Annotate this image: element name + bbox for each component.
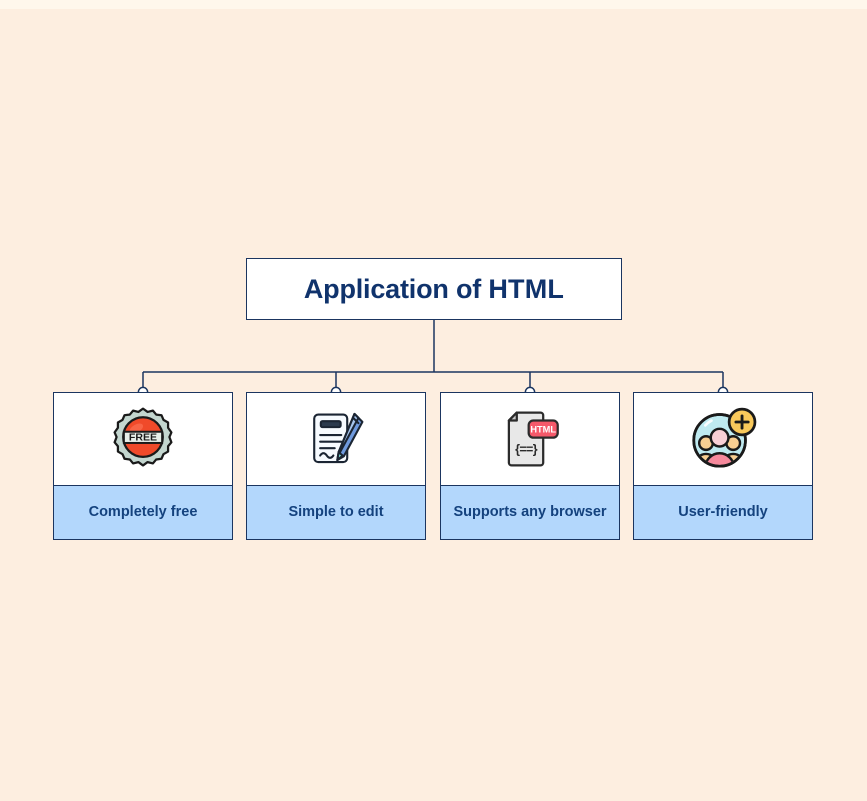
card-simple-to-edit[interactable]: Simple to edit bbox=[246, 392, 426, 540]
card-icon-area bbox=[247, 393, 425, 485]
users-group-add-icon bbox=[689, 405, 757, 473]
free-badge-label: FREE bbox=[129, 432, 157, 444]
page-title: Application of HTML bbox=[304, 274, 564, 305]
diagram-title-box: Application of HTML bbox=[246, 258, 622, 320]
card-user-friendly[interactable]: User-friendly bbox=[633, 392, 813, 540]
card-icon-area: FREE bbox=[54, 393, 232, 485]
free-badge-icon: FREE bbox=[110, 406, 176, 472]
title-regular-part: Application of bbox=[304, 274, 488, 304]
title-bold-part: HTML bbox=[488, 274, 564, 304]
html-badge-label: HTML bbox=[530, 424, 556, 434]
html-code-braces: {==} bbox=[515, 443, 538, 457]
document-pen-edit-icon bbox=[303, 406, 369, 472]
card-label-completely-free: Completely free bbox=[54, 485, 232, 539]
card-icon-area bbox=[634, 393, 812, 485]
card-label-supports-any-browser: Supports any browser bbox=[441, 485, 619, 539]
card-completely-free[interactable]: FREE Completely free bbox=[53, 392, 233, 540]
card-icon-area: HTML {==} bbox=[441, 393, 619, 485]
card-supports-any-browser[interactable]: HTML {==} Supports any browser bbox=[440, 392, 620, 540]
html-file-icon: HTML {==} bbox=[497, 406, 563, 472]
card-label-simple-to-edit: Simple to edit bbox=[247, 485, 425, 539]
application-of-html-diagram: Application of HTML FREE Completely free bbox=[0, 0, 867, 801]
card-label-user-friendly: User-friendly bbox=[634, 485, 812, 539]
